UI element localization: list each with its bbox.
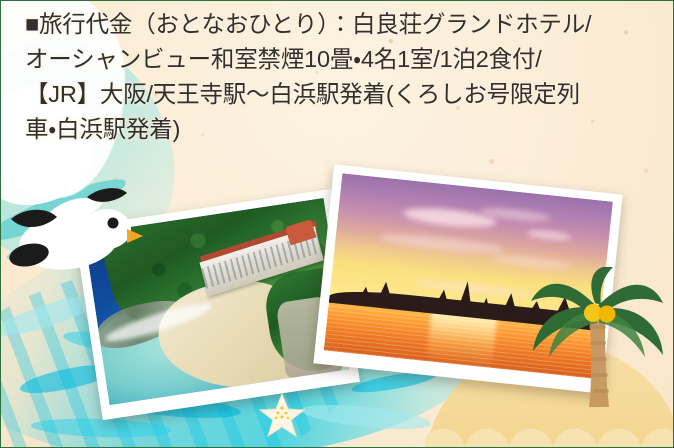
headline-line-4: 車・白浜駅発着)	[25, 112, 665, 147]
seagull-icon	[3, 177, 143, 285]
promo-banner: ■旅行代金（おとなおひとり）：白良荘グランドホテル/ オーシャンビュー和室禁煙1…	[0, 0, 674, 448]
headline-line-1: ■旅行代金（おとなおひとり）：白良荘グランドホテル/	[25, 7, 665, 42]
palm-tree-icon	[527, 267, 667, 417]
headline-line-2: オーシャンビュー和室禁煙10畳・4名1室/1泊2食付/	[25, 42, 665, 77]
sand-dune-wave	[425, 425, 674, 448]
headline-line-3: 【JR】大阪/天王寺駅〜白浜駅発着(くろしお号限定列	[25, 77, 665, 112]
page-title: ■旅行代金（おとなおひとり）：白良荘グランドホテル/ オーシャンビュー和室禁煙1…	[25, 7, 665, 147]
starfish-icon	[259, 393, 305, 437]
